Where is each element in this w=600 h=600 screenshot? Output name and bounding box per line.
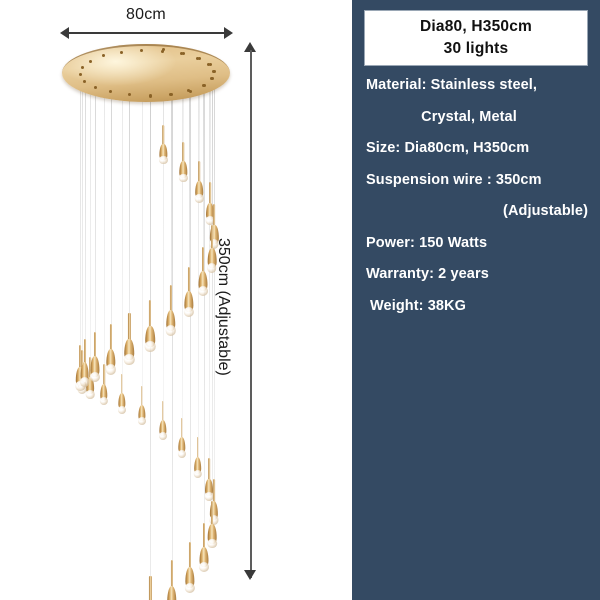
pendant-crystal-ball	[199, 562, 209, 572]
pendant-rod	[109, 324, 111, 351]
pendant-crystal-ball	[90, 372, 100, 382]
spec-item: Suspension wire : 350cm	[352, 165, 600, 197]
spec-item: Crystal, Metal	[352, 102, 600, 134]
pendant-light	[118, 374, 125, 419]
height-dimension-label: 350cm (Adjustable)	[214, 238, 232, 376]
width-dimension-line	[66, 32, 226, 34]
pendant-crystal-ball	[198, 286, 208, 296]
spec-item: (Adjustable)	[352, 196, 600, 228]
pendant-light	[167, 560, 176, 600]
suspension-wire	[182, 54, 183, 418]
pendant-crystal-ball	[159, 432, 167, 440]
pendant-light	[160, 125, 167, 170]
specification-panel: Dia80, H350cm 30 lights Material: Stainl…	[352, 0, 600, 600]
pendant-rod	[202, 247, 204, 273]
title-line-1: Dia80, H350cm	[420, 16, 532, 38]
pendant-crystal-ball	[105, 364, 115, 374]
pendant-light	[199, 247, 208, 303]
pendant-light	[178, 418, 185, 464]
pendant-rod	[211, 501, 213, 526]
pendant-light	[196, 161, 204, 208]
pendant-rod	[181, 418, 183, 439]
pendant-rod	[128, 313, 130, 340]
pendant-rod	[171, 560, 173, 587]
width-dimension-label: 80cm	[96, 6, 196, 24]
height-dimension-line	[250, 50, 252, 578]
pendant-light	[184, 267, 193, 325]
pendant-light	[186, 542, 195, 600]
pendant-rod	[94, 332, 96, 358]
pendant-rod	[121, 374, 123, 395]
canopy-hole	[79, 73, 82, 76]
product-spec-image: 80cm 350cm (Adjustable) Dia80, H350cm 30…	[0, 0, 600, 600]
pendant-rod	[162, 401, 164, 422]
canopy-hole	[81, 66, 84, 69]
pendant-rod	[170, 285, 172, 312]
pendant-crystal-ball	[207, 539, 217, 549]
pendant-rod	[209, 182, 211, 205]
canopy-hole	[83, 80, 86, 83]
pendant-rod	[211, 225, 213, 250]
pendant-light	[80, 339, 89, 394]
pendant-crystal-ball	[195, 194, 203, 202]
pendant-crystal-ball	[207, 263, 217, 273]
product-illustration: 80cm 350cm (Adjustable)	[0, 0, 352, 600]
pendant-rod	[203, 523, 205, 549]
spec-item: Size: Dia80cm, H350cm	[352, 133, 600, 165]
pendant-rod	[197, 437, 199, 459]
suspension-wire	[163, 51, 164, 400]
pendant-crystal-ball	[100, 397, 108, 405]
pendant-light	[125, 313, 135, 372]
suspension-wire	[111, 92, 112, 324]
pendant-rod	[208, 458, 210, 481]
pendant-crystal-ball	[118, 406, 126, 414]
canopy-hole	[189, 90, 192, 93]
pendant-light	[145, 300, 155, 359]
suspension-wire	[104, 56, 105, 365]
pendant-light	[159, 401, 166, 446]
suspension-wire	[82, 67, 83, 350]
specification-list: Material: Stainless steel,Crystal, Metal…	[352, 70, 600, 323]
pendant-rod	[84, 339, 86, 364]
pendant-rod	[163, 125, 165, 146]
pendant-rod	[183, 142, 185, 163]
pendant-rod	[199, 161, 201, 183]
pendant-crystal-ball	[80, 377, 90, 387]
spec-item: Weight: 38KG	[352, 291, 600, 323]
pendant-light	[138, 386, 145, 431]
pendant-rod	[188, 267, 190, 294]
pendant-light	[194, 437, 202, 484]
pendant-rod	[141, 386, 143, 407]
suspension-wire	[90, 61, 91, 357]
pendant-rod	[149, 576, 151, 600]
pendant-crystal-ball	[179, 174, 187, 182]
width-arrow-right-icon	[224, 27, 233, 39]
canopy-hole	[120, 51, 123, 54]
pendant-crystal-ball	[178, 450, 186, 458]
pendant-light	[200, 523, 209, 579]
pendant-light	[180, 142, 187, 188]
canopy-hole	[89, 60, 92, 63]
pendant-rod	[213, 204, 215, 228]
pendant-light	[208, 501, 217, 555]
suspension-wire	[129, 95, 130, 313]
ceiling-canopy	[62, 44, 230, 102]
suspension-wire	[80, 74, 81, 344]
pendant-light	[166, 285, 175, 344]
pendant-crystal-ball	[145, 341, 156, 352]
pendant-crystal-ball	[159, 156, 167, 164]
height-arrow-down-icon	[244, 570, 256, 580]
pendant-light	[106, 324, 115, 382]
pendant-rod	[213, 479, 215, 503]
product-title-box: Dia80, H350cm 30 lights	[364, 10, 588, 66]
canopy-hole	[161, 50, 164, 53]
spec-item: Power: 150 Watts	[352, 228, 600, 260]
pendant-crystal-ball	[185, 583, 195, 593]
canopy-hole	[203, 84, 206, 87]
pendant-rod	[189, 542, 191, 569]
pendant-crystal-ball	[165, 325, 176, 336]
pendant-crystal-ball	[124, 354, 135, 365]
spec-item: Material: Stainless steel,	[352, 70, 600, 102]
title-line-2: 30 lights	[444, 38, 509, 60]
pendant-crystal-ball	[138, 417, 146, 425]
canopy-hole	[94, 86, 97, 89]
suspension-wire	[85, 81, 86, 339]
pendant-crystal-ball	[184, 307, 194, 317]
suspension-wire	[212, 79, 213, 502]
pendant-light	[146, 576, 156, 600]
pendant-rod	[149, 300, 151, 328]
spec-item: Warranty: 2 years	[352, 259, 600, 291]
pendant-crystal-ball	[194, 470, 202, 478]
pendant-light	[208, 225, 217, 279]
suspension-wire	[95, 87, 96, 332]
pendant-cone	[167, 586, 176, 600]
pendant-light	[91, 332, 100, 389]
